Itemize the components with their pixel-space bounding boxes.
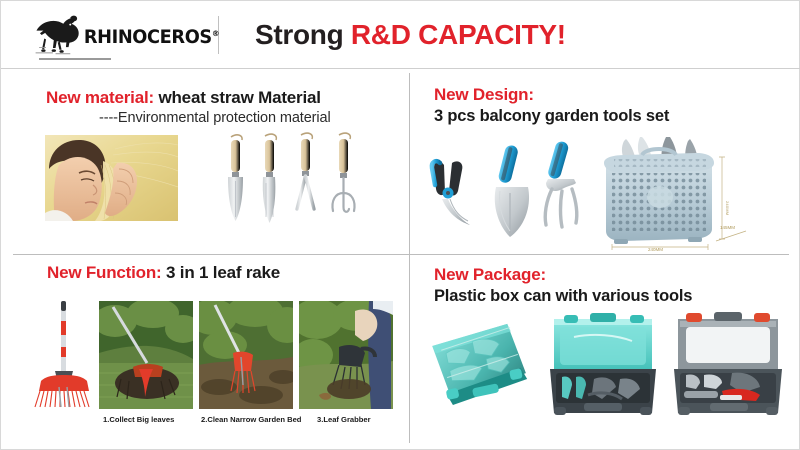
page-title: Strong R&D CAPACITY! bbox=[255, 19, 566, 51]
logo-underline bbox=[39, 58, 111, 60]
basket-width-dim: 240MM bbox=[648, 247, 663, 251]
action-photo-collect-leaves bbox=[99, 301, 193, 409]
panel-new-material: New material: wheat straw Material ----E… bbox=[1, 73, 409, 254]
new-function-heading: New Function: 3 in 1 leaf rake bbox=[47, 263, 280, 283]
new-package-heading: New Package: bbox=[434, 265, 546, 285]
new-design-heading: New Design: bbox=[434, 85, 534, 105]
caption-3: 3.Leaf Grabber bbox=[311, 415, 397, 424]
brand-wordmark: RHINOCEROS® bbox=[84, 27, 219, 48]
action-photo-narrow-bed bbox=[199, 301, 293, 409]
registered-mark-icon: ® bbox=[212, 29, 219, 38]
caption-2: 2.Clean Narrow Garden Bed bbox=[201, 415, 311, 424]
slide-header: RHINOCEROS® Strong R&D CAPACITY! bbox=[1, 1, 800, 69]
wheat-handle-tools-photo bbox=[217, 131, 392, 227]
action-photo-leaf-grabber bbox=[299, 301, 393, 409]
new-design-subtitle: 3 pcs balcony garden tools set bbox=[434, 107, 669, 126]
new-material-subtitle: ----Environmental protection material bbox=[99, 110, 331, 126]
basket-depth-dim: 145MM bbox=[720, 225, 735, 230]
toolcase-teal-open-photo bbox=[544, 309, 662, 421]
page-title-accent: R&D CAPACITY! bbox=[351, 19, 566, 50]
storage-basket-photo: 240MM 240MM 145MM bbox=[596, 135, 792, 251]
leaf-rake-product-photo bbox=[31, 299, 97, 411]
brand-logo: RHINOCEROS® bbox=[33, 12, 198, 58]
toolcase-teal-closed-photo bbox=[420, 313, 536, 419]
new-material-heading: New material: wheat straw Material bbox=[46, 88, 321, 108]
blue-handle-tools-photo bbox=[422, 133, 622, 248]
panel-new-package: New Package: Plastic box can with variou… bbox=[410, 255, 800, 450]
panel-new-function: New Function: 3 in 1 leaf rake bbox=[1, 255, 409, 450]
rhinoceros-logo-icon bbox=[33, 15, 85, 55]
wheat-straw-woman-photo bbox=[45, 135, 178, 221]
new-package-subtitle: Plastic box can with various tools bbox=[434, 287, 692, 306]
caption-1: 1.Collect Big leaves bbox=[97, 415, 201, 424]
panel-new-design: New Design: 3 pcs balcony garden tools s… bbox=[410, 73, 800, 254]
basket-height-dim: 240MM bbox=[725, 201, 730, 215]
action-captions: 1.Collect Big leaves 2.Clean Narrow Gard… bbox=[97, 415, 397, 424]
marketing-slide: RHINOCEROS® Strong R&D CAPACITY! New mat… bbox=[0, 0, 800, 450]
toolcase-gray-open-photo bbox=[668, 309, 788, 421]
